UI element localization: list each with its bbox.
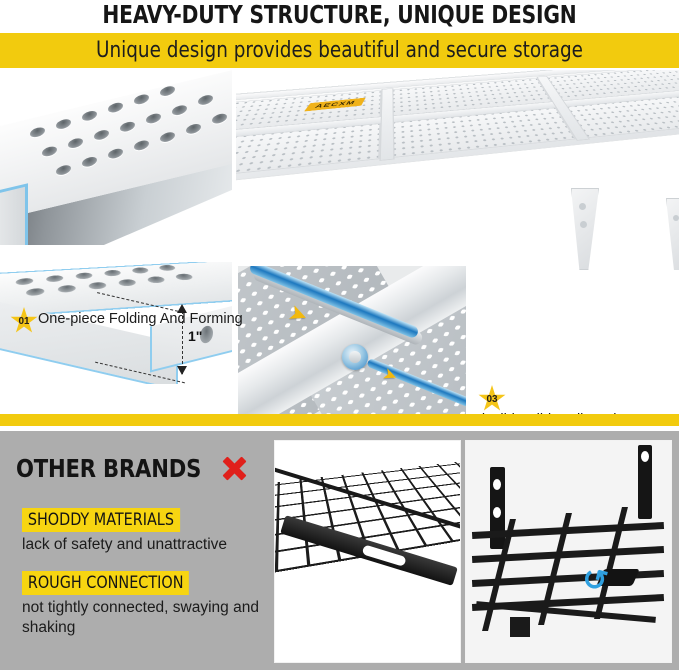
support-bracket	[666, 198, 679, 270]
feature-image-area: AECXM	[0, 70, 679, 415]
product-infographic: HEAVY-DUTY STRUCTURE, UNIQUE DESIGN Uniq…	[0, 0, 679, 670]
slide-rail-photo: ➤ ➤	[238, 266, 466, 414]
panel-folded-lip	[0, 183, 28, 245]
dimension-annotation: 1"	[152, 292, 232, 384]
support-bracket	[571, 188, 599, 270]
ceiling-rack-photo: AECXM	[236, 70, 679, 270]
drawback-body-1: lack of safety and unattractive	[22, 535, 262, 555]
callout-text-01: One-piece Folding And Forming	[38, 310, 243, 329]
comparison-section: OTHER BRANDS SHODDY MATERIALS lack of sa…	[0, 431, 679, 670]
page-subtitle: Unique design provides beautiful and sec…	[24, 33, 655, 68]
metal-rack-photo: ↺	[465, 440, 672, 663]
callout-badge-03: 03	[478, 385, 506, 413]
rack-deck: AECXM	[236, 70, 679, 190]
drawback-body-2: not tightly connected, swaying and shaki…	[22, 598, 268, 638]
drawback-title-1: SHODDY MATERIALS	[22, 508, 180, 532]
section-divider	[0, 414, 679, 426]
callout-number: 03	[486, 393, 497, 405]
drawback-title-2: ROUGH CONNECTION	[22, 571, 189, 595]
x-mark-icon	[219, 453, 249, 483]
dimension-label: 1"	[188, 328, 202, 344]
page-title: HEAVY-DUTY STRUCTURE, UNIQUE DESIGN	[34, 0, 645, 32]
comparison-heading: OTHER BRANDS	[16, 454, 201, 483]
comparison-heading-row: OTHER BRANDS	[16, 453, 249, 483]
folded-panel-photo	[0, 70, 232, 245]
comparison-text-block: OTHER BRANDS SHODDY MATERIALS lack of sa…	[0, 431, 268, 670]
rack-panel-grid	[236, 70, 679, 189]
wire-mesh-rack-photo	[274, 440, 461, 663]
bolt-icon	[342, 344, 368, 370]
arrow-down-icon	[177, 366, 187, 375]
